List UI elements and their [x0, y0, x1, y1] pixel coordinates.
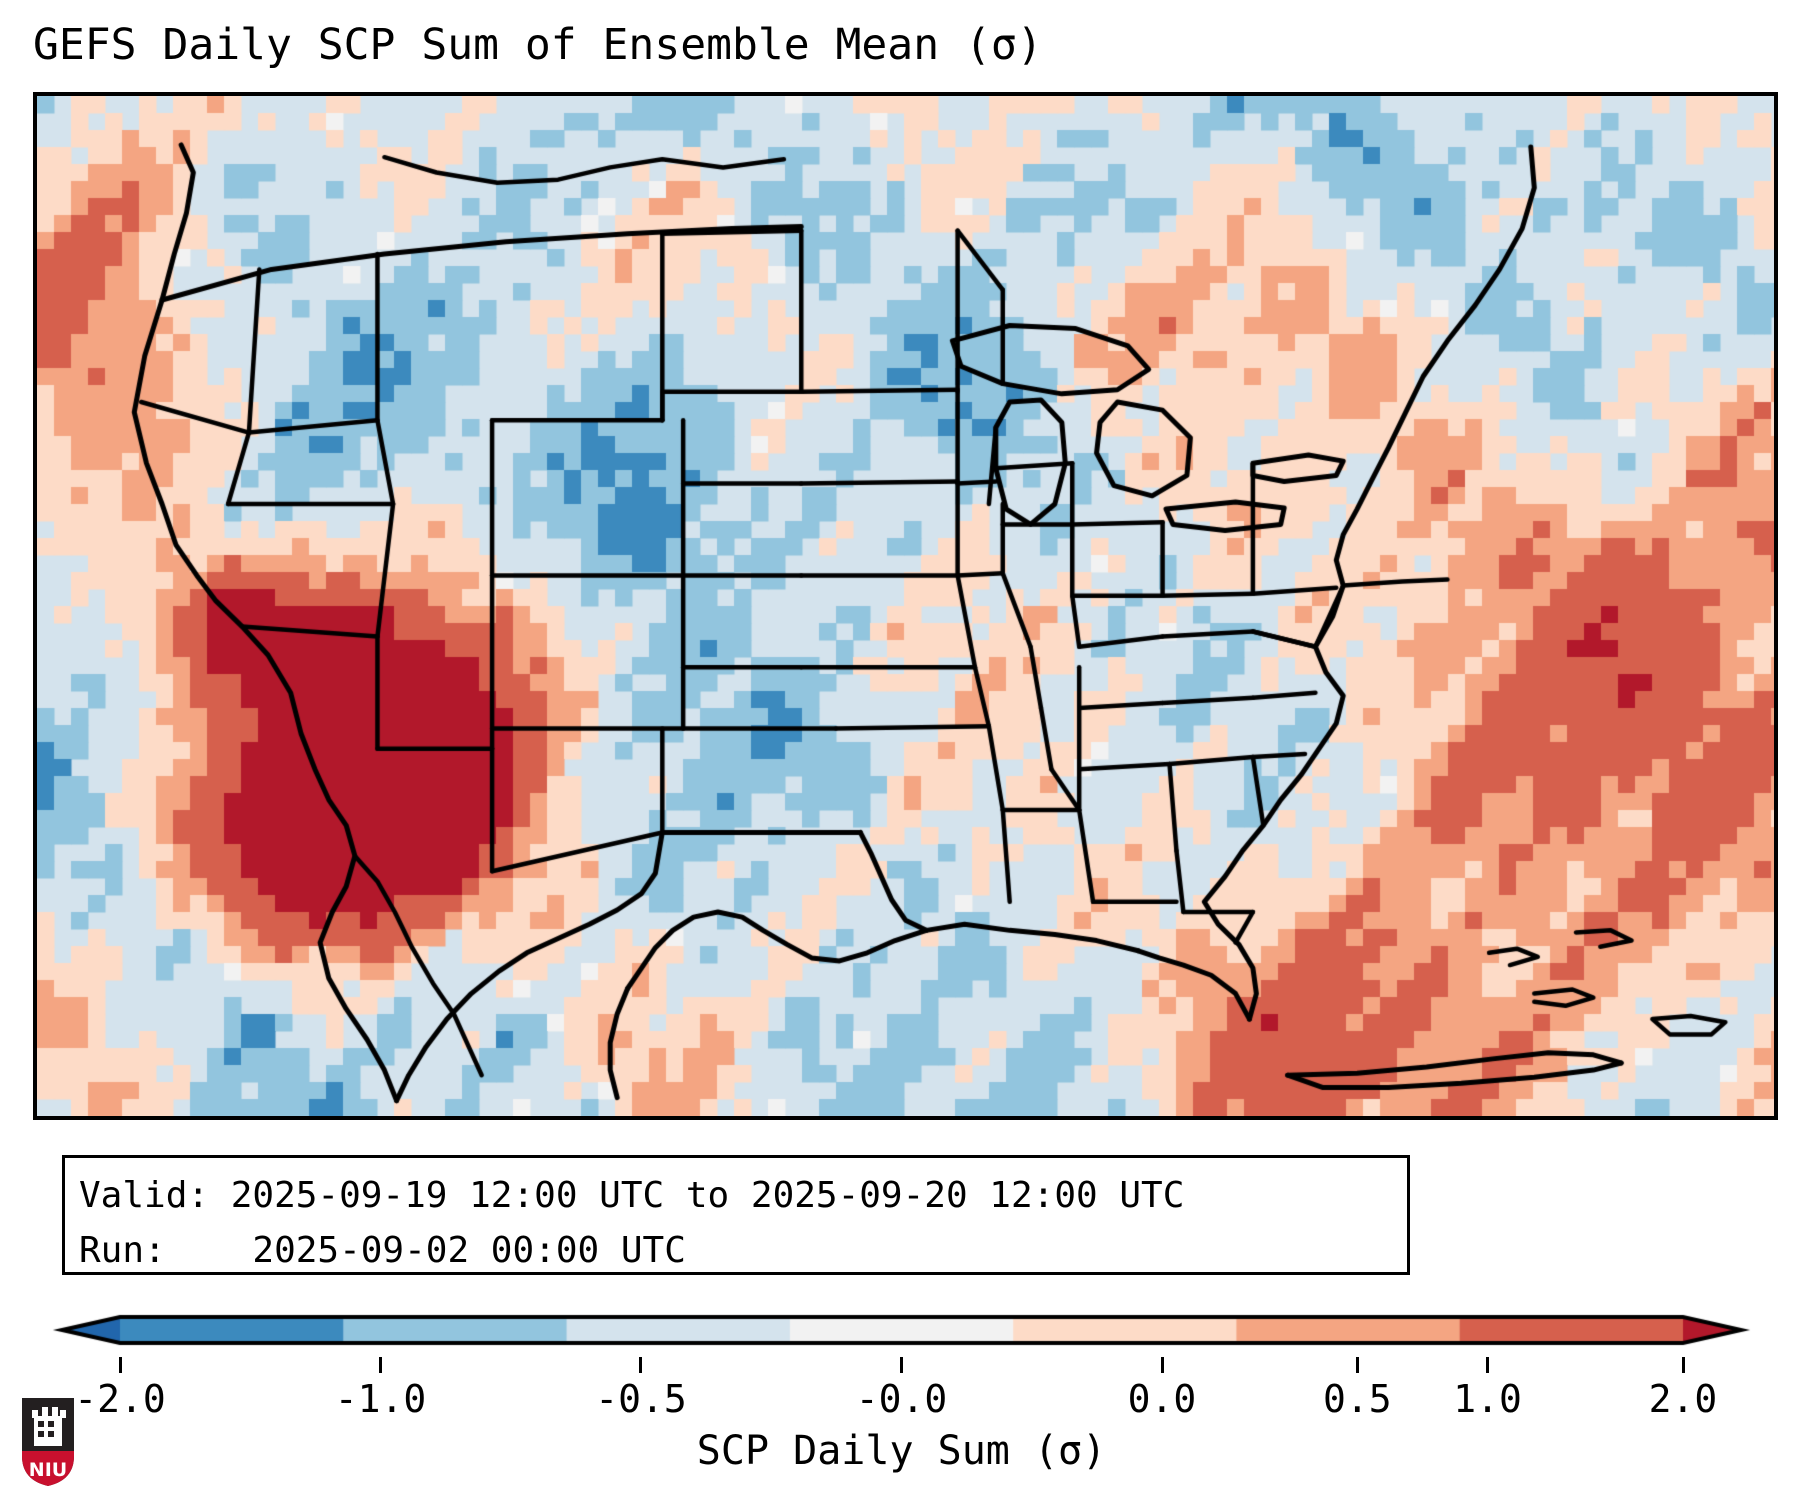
colorbar[interactable]: -2.0-1.0-0.5-0.00.00.51.02.0: [0, 1311, 1803, 1371]
niu-logo-text: NIU: [29, 1459, 67, 1481]
colorbar-tick-1: [379, 1357, 382, 1373]
valid-time-line: Valid: 2025-09-19 12:00 UTC to 2025-09-2…: [79, 1168, 1393, 1223]
page-title: GEFS Daily SCP Sum of Ensemble Mean (σ): [33, 12, 1778, 78]
colorbar-tick-label-3: -0.0: [856, 1377, 948, 1421]
map-panel[interactable]: [33, 92, 1778, 1120]
colorbar-tick-3: [900, 1357, 903, 1373]
colorbar-tick-5: [1356, 1357, 1359, 1373]
colorbar-tick-label-6: 1.0: [1453, 1377, 1522, 1421]
colorbar-tick-4: [1161, 1357, 1164, 1373]
colorbar-tick-6: [1486, 1357, 1489, 1373]
colorbar-axis-label: SCP Daily Sum (σ): [0, 1428, 1803, 1474]
colorbar-gradient[interactable]: [0, 1311, 1803, 1357]
scp-anomaly-heatmap[interactable]: [37, 96, 1774, 1116]
colorbar-tick-7: [1682, 1357, 1685, 1373]
colorbar-tick-label-0: -2.0: [74, 1377, 166, 1421]
metadata-box: Valid: 2025-09-19 12:00 UTC to 2025-09-2…: [62, 1155, 1410, 1275]
colorbar-tick-label-4: 0.0: [1128, 1377, 1197, 1421]
colorbar-tick-label-5: 0.5: [1323, 1377, 1392, 1421]
colorbar-tick-2: [639, 1357, 642, 1373]
colorbar-tick-label-2: -0.5: [595, 1377, 687, 1421]
colorbar-tick-label-7: 2.0: [1649, 1377, 1718, 1421]
colorbar-tick-label-1: -1.0: [335, 1377, 427, 1421]
run-time-line: Run: 2025-09-02 00:00 UTC: [79, 1223, 1393, 1278]
colorbar-tick-0: [119, 1357, 122, 1373]
niu-logo: NIU: [20, 1396, 76, 1488]
